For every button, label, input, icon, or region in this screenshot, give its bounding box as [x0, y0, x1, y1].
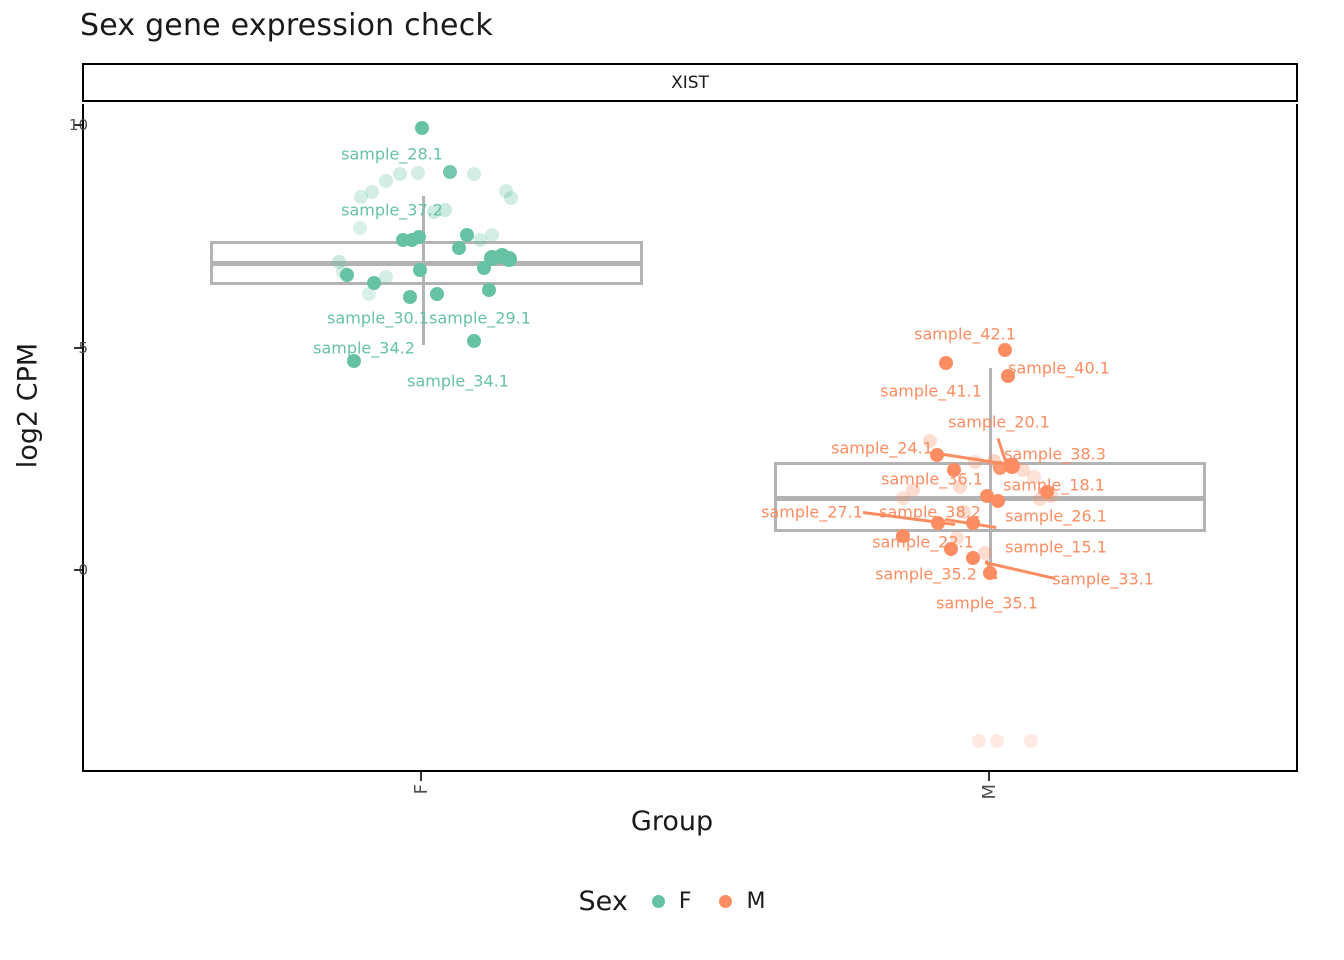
plot-panel: sample_28.1sample_37.2sample_30.1sample_… — [82, 104, 1298, 772]
point-label: sample_24.1 — [831, 439, 933, 458]
data-point — [968, 455, 982, 469]
legend-swatch-icon — [652, 895, 665, 908]
x-tick-label-m: M — [979, 784, 1000, 800]
point-label: sample_35.1 — [936, 594, 1038, 613]
data-point — [477, 261, 491, 275]
y-tick-mark — [74, 569, 82, 571]
data-point — [379, 270, 393, 284]
data-point — [467, 167, 481, 181]
point-label: sample_38.3 — [1004, 445, 1106, 464]
legend-item-label: M — [746, 889, 765, 914]
legend-item-m[interactable]: M — [719, 889, 765, 914]
y-tick-mark — [74, 347, 82, 349]
legend-item-label: F — [679, 889, 692, 914]
data-point — [443, 165, 457, 179]
data-point — [379, 174, 393, 188]
point-label: sample_18.1 — [1003, 476, 1105, 495]
data-point — [504, 191, 518, 205]
data-point — [412, 230, 426, 244]
data-point — [482, 283, 496, 297]
point-label: sample_22.1 — [872, 533, 974, 552]
point-label: sample_38.2 — [879, 503, 981, 522]
data-point — [411, 166, 425, 180]
data-point — [460, 228, 474, 242]
point-label: sample_26.1 — [1005, 507, 1107, 526]
x-axis-title: Group — [0, 806, 1344, 837]
data-point — [998, 343, 1012, 357]
point-label: sample_33.1 — [1052, 570, 1154, 589]
point-label: sample_34.1 — [407, 372, 509, 391]
data-point — [452, 241, 466, 255]
point-label: sample_34.2 — [313, 339, 415, 358]
data-point — [1024, 734, 1038, 748]
legend: Sex FM — [0, 886, 1344, 917]
data-point — [340, 268, 354, 282]
point-label: sample_36.1 — [881, 470, 983, 489]
point-label: sample_30.1 — [327, 309, 429, 328]
legend-swatch-icon — [719, 895, 732, 908]
data-point — [983, 566, 997, 580]
data-point — [972, 734, 986, 748]
point-label: sample_27.1 — [761, 503, 863, 522]
legend-item-f[interactable]: F — [652, 889, 692, 914]
data-point — [485, 228, 499, 242]
point-label: sample_29.1 — [429, 309, 531, 328]
x-tick-mark — [420, 772, 422, 781]
y-axis-title: log2 CPM — [13, 226, 44, 586]
chart-root: Sex gene expression check XIST sample_28… — [0, 0, 1344, 960]
point-label: sample_35.2 — [875, 565, 977, 584]
x-tick-label-f: F — [411, 784, 432, 794]
data-point — [501, 251, 517, 267]
data-point — [362, 287, 376, 301]
data-point — [393, 167, 407, 181]
data-point — [991, 494, 1005, 508]
data-point — [430, 287, 444, 301]
data-point — [978, 546, 992, 560]
point-label: sample_15.1 — [1005, 538, 1107, 557]
boxplot-median — [210, 261, 643, 266]
data-point — [415, 121, 429, 135]
data-point — [939, 356, 953, 370]
point-label: sample_28.1 — [341, 145, 443, 164]
data-point — [990, 734, 1004, 748]
facet-strip-label: XIST — [671, 73, 709, 93]
data-point — [987, 454, 1001, 468]
point-label: sample_20.1 — [948, 413, 1050, 432]
data-point — [353, 221, 367, 235]
point-label: sample_37.2 — [341, 201, 443, 220]
facet-strip: XIST — [82, 63, 1298, 102]
y-tick-mark — [74, 124, 82, 126]
data-point — [467, 334, 481, 348]
page-title: Sex gene expression check — [80, 8, 493, 43]
point-label: sample_41.1 — [880, 382, 982, 401]
point-label: sample_40.1 — [1008, 359, 1110, 378]
legend-title: Sex — [579, 886, 628, 917]
data-point — [403, 290, 417, 304]
data-point — [413, 263, 427, 277]
point-label: sample_42.1 — [914, 325, 1016, 344]
x-tick-mark — [988, 772, 990, 781]
